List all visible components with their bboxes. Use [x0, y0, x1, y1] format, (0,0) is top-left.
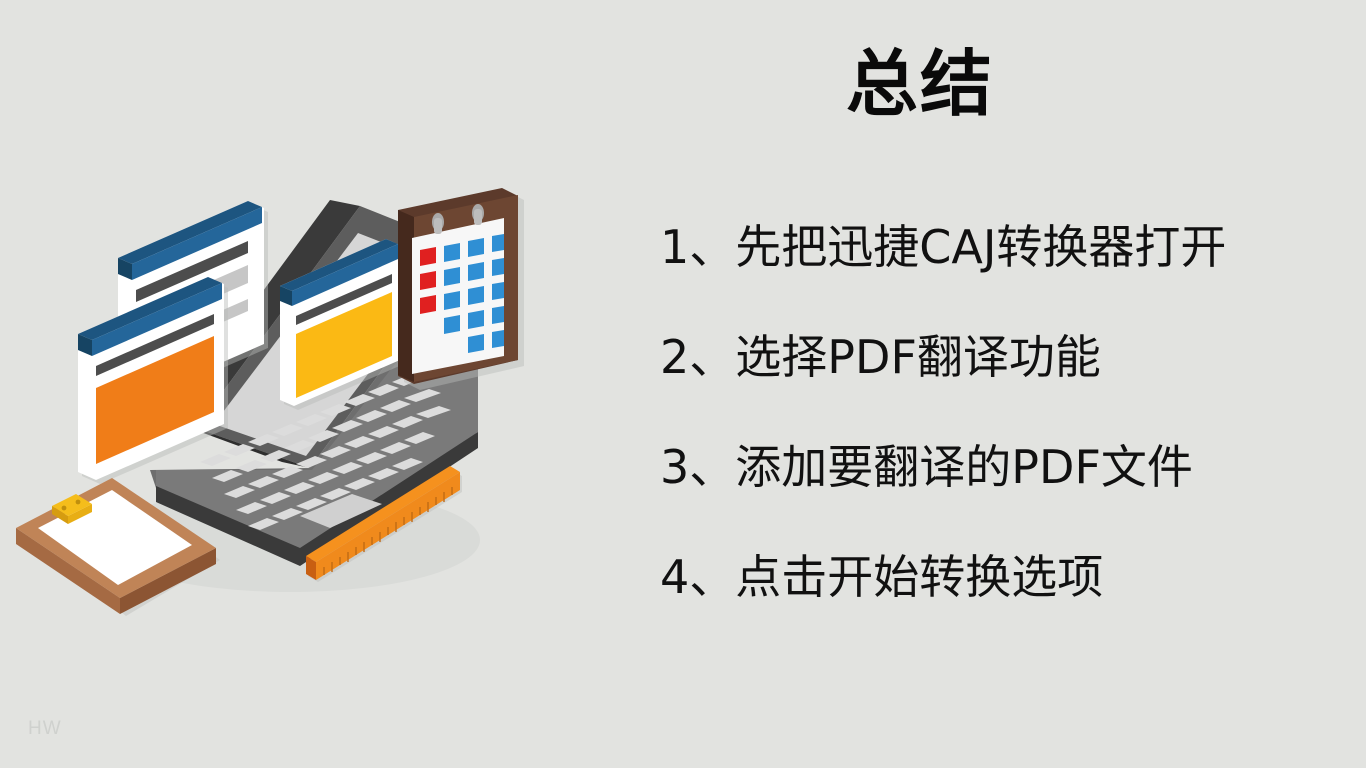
content-panel: 总结 1、 先把迅捷CAJ转换器打开 2、 选择PDF翻译功能 3、 添加要翻译… — [640, 0, 1366, 768]
watermark-label: HW — [28, 718, 62, 740]
calendar-icon — [398, 188, 524, 390]
step-number: 3、 — [660, 412, 735, 522]
floating-window-orange — [78, 277, 228, 484]
step-text: 先把迅捷CAJ转换器打开 — [735, 192, 1226, 302]
step-text: 选择PDF翻译功能 — [735, 302, 1101, 412]
step-text: 点击开始转换选项 — [735, 522, 1103, 632]
list-item: 1、 先把迅捷CAJ转换器打开 — [660, 192, 1366, 302]
step-number: 1、 — [660, 192, 735, 302]
page-title: 总结 — [640, 48, 1200, 120]
slide-canvas: 总结 1、 先把迅捷CAJ转换器打开 2、 选择PDF翻译功能 3、 添加要翻译… — [0, 0, 1366, 768]
list-item: 3、 添加要翻译的PDF文件 — [660, 412, 1366, 522]
isometric-desk-illustration — [0, 0, 640, 768]
list-item: 2、 选择PDF翻译功能 — [660, 302, 1366, 412]
steps-list: 1、 先把迅捷CAJ转换器打开 2、 选择PDF翻译功能 3、 添加要翻译的PD… — [660, 192, 1366, 632]
list-item: 4、 点击开始转换选项 — [660, 522, 1366, 632]
step-number: 4、 — [660, 522, 735, 632]
step-number: 2、 — [660, 302, 735, 412]
step-text: 添加要翻译的PDF文件 — [735, 412, 1193, 522]
